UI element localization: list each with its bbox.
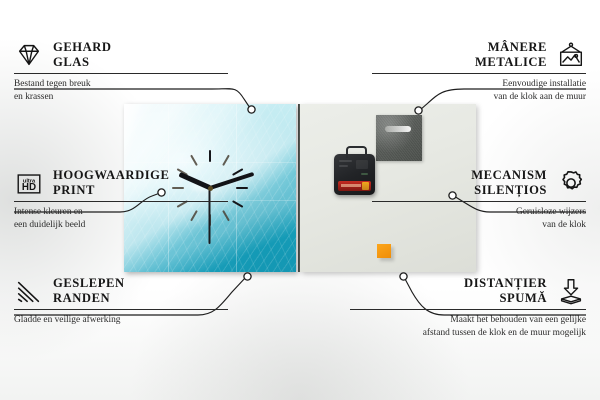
callout-title-line1: GEHARD (53, 40, 112, 55)
callout-subtitle-line1: Intense kleuren en (14, 206, 228, 219)
infographic-canvas: GEHARD GLAS Bestand tegen breuk en krass… (0, 0, 600, 400)
callout-title: GESLEPEN RANDEN (53, 276, 125, 305)
feature-callout-high-quality-print: ultra HD HOOGWAARDIGE PRINT Intense kleu… (14, 168, 228, 231)
callout-heading: DISTANȚIER SPUMĂ (350, 276, 586, 306)
callout-divider (372, 73, 586, 74)
diamond-icon (14, 40, 44, 70)
clock-mechanism-part (334, 154, 375, 195)
battery-part (338, 181, 371, 191)
mechanism-detail (339, 160, 352, 162)
callout-heading: ultra HD HOOGWAARDIGE PRINT (14, 168, 228, 198)
callout-subtitle-line2: van de klok aan de muur (372, 91, 586, 104)
callout-subtitle-line2: en krassen (14, 91, 228, 104)
callout-subtitle-line1: Geruisloze wijzers (372, 206, 586, 219)
callout-divider (372, 201, 586, 202)
callout-subtitle-line1: Gladde en veilige afwerking (14, 314, 228, 327)
feature-callout-tempered-glass: GEHARD GLAS Bestand tegen breuk en krass… (14, 40, 228, 103)
callout-divider (14, 73, 228, 74)
callout-title: MECANISM SILENȚIOS (471, 168, 547, 197)
mechanism-detail (361, 173, 368, 175)
callout-subtitle-line1: Bestand tegen breuk (14, 78, 228, 91)
feature-callout-foam-spacer: DISTANȚIER SPUMĂ Maakt het behouden van … (350, 276, 586, 339)
callout-title-line1: DISTANȚIER (464, 276, 547, 291)
callout-subtitle-line2: van de klok (372, 219, 586, 232)
callout-title-line1: MÂNERE (475, 40, 547, 55)
callout-subtitle: Eenvoudige installatie van de klok aan d… (372, 78, 586, 103)
hanger-slot (385, 126, 411, 132)
battery-positive-terminal (362, 182, 369, 190)
callout-heading: MECANISM SILENȚIOS (372, 168, 586, 198)
metal-hanger-part (376, 115, 422, 161)
callout-subtitle: Intense kleuren en een duidelijk beeld (14, 206, 228, 231)
gear-icon (556, 168, 586, 198)
callout-title-line1: HOOGWAARDIGE (53, 168, 169, 183)
callout-title-line1: GESLEPEN (53, 276, 125, 291)
ultra-hd-icon: ultra HD (14, 168, 44, 198)
callout-title: MÂNERE METALICE (475, 40, 547, 69)
feature-callout-metal-handles: MÂNERE METALICE Eenvoudige installatie v… (372, 40, 586, 103)
callout-heading: GEHARD GLAS (14, 40, 228, 70)
callout-divider (14, 201, 228, 202)
ultra-hd-icon-main-text: HD (22, 182, 36, 193)
feature-callout-ground-edges: GESLEPEN RANDEN Gladde en veilige afwerk… (14, 276, 228, 327)
callout-subtitle: Geruisloze wijzers van de klok (372, 206, 586, 231)
mechanism-hanging-bracket (346, 146, 367, 158)
callout-subtitle: Maakt het behouden van een gelijke afsta… (350, 314, 586, 339)
callout-title-line2: SPUMĂ (464, 291, 547, 306)
callout-title-line1: MECANISM (471, 168, 547, 183)
callout-title-line2: METALICE (475, 55, 547, 70)
feature-callout-silent-mechanism: MECANISM SILENȚIOS Geruisloze wijzers va… (372, 168, 586, 231)
callout-divider (14, 309, 228, 310)
callout-title-line2: PRINT (53, 183, 169, 198)
callout-subtitle-line2: afstand tussen de klok en de muur mogeli… (350, 327, 586, 340)
callout-title-line2: GLAS (53, 55, 112, 70)
callout-subtitle-line1: Eenvoudige installatie (372, 78, 586, 91)
down-arrow-pad-icon (556, 276, 586, 306)
callout-divider (350, 309, 586, 310)
callout-subtitle: Gladde en veilige afwerking (14, 314, 228, 327)
mechanism-detail (339, 165, 348, 167)
callout-heading: MÂNERE METALICE (372, 40, 586, 70)
battery-label (341, 184, 361, 187)
mechanism-detail (356, 160, 368, 169)
callout-title: GEHARD GLAS (53, 40, 112, 69)
callout-title-line2: SILENȚIOS (471, 183, 547, 198)
callout-title-line2: RANDEN (53, 291, 125, 306)
ground-edges-icon (14, 276, 44, 306)
callout-subtitle-line2: een duidelijk beeld (14, 219, 228, 232)
callout-title: HOOGWAARDIGE PRINT (53, 168, 169, 197)
callout-subtitle-line1: Maakt het behouden van een gelijke (350, 314, 586, 327)
callout-subtitle: Bestand tegen breuk en krassen (14, 78, 228, 103)
framed-picture-hanging-icon (556, 40, 586, 70)
foam-spacer-part (377, 244, 391, 258)
callout-heading: GESLEPEN RANDEN (14, 276, 228, 306)
callout-title: DISTANȚIER SPUMĂ (464, 276, 547, 305)
